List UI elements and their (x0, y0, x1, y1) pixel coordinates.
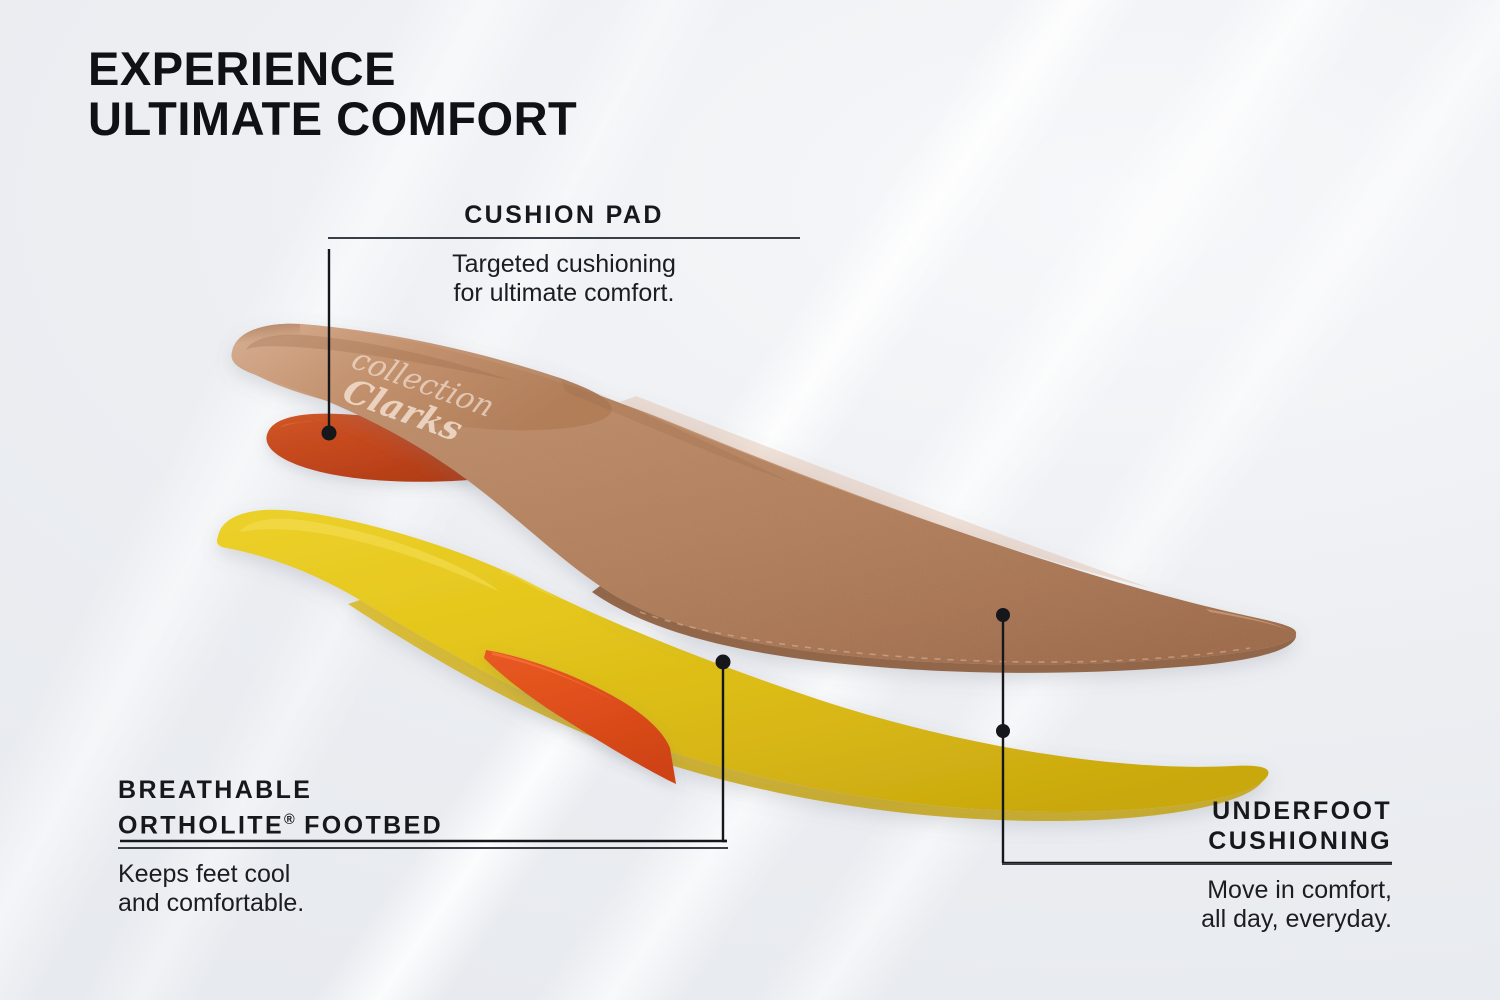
leader-dot-ortholite (716, 655, 731, 670)
callout-cushion-pad-heading: CUSHION PAD (328, 200, 800, 230)
callout-underfoot-heading: UNDERFOOT CUSHIONING (1002, 796, 1392, 856)
registered-trademark-icon: ® (284, 812, 295, 828)
callout-ortholite-footbed: BREATHABLEORTHOLITE® FOOTBED Keeps feet … (118, 775, 728, 918)
callout-ortholite-heading-line1: BREATHABLE (118, 776, 312, 804)
callout-cushion-pad: CUSHION PAD Targeted cushioning for ulti… (328, 200, 800, 308)
callout-cushion-pad-body: Targeted cushioning for ultimate comfort… (328, 250, 800, 308)
leader-dot-underfoot-upper (996, 608, 1010, 622)
callout-underfoot-rule (1002, 863, 1392, 865)
leader-dot-underfoot-lower (996, 724, 1010, 738)
callout-ortholite-rule (118, 847, 728, 849)
callout-ortholite-body: Keeps feet cool and comfortable. (118, 860, 728, 918)
callout-underfoot-cushioning: UNDERFOOT CUSHIONING Move in comfort, al… (1002, 796, 1392, 934)
callout-cushion-pad-rule (328, 237, 800, 239)
callout-ortholite-heading-line2-tail: FOOTBED (295, 811, 443, 839)
callout-ortholite-heading-line2: ORTHOLITE (118, 811, 284, 839)
leader-dot-cushion-pad (322, 426, 337, 441)
callout-ortholite-heading: BREATHABLEORTHOLITE® FOOTBED (118, 775, 728, 840)
infographic-canvas: EXPERIENCE ULTIMATE COMFORT (0, 0, 1500, 1000)
callout-underfoot-body: Move in comfort, all day, everyday. (1002, 876, 1392, 934)
